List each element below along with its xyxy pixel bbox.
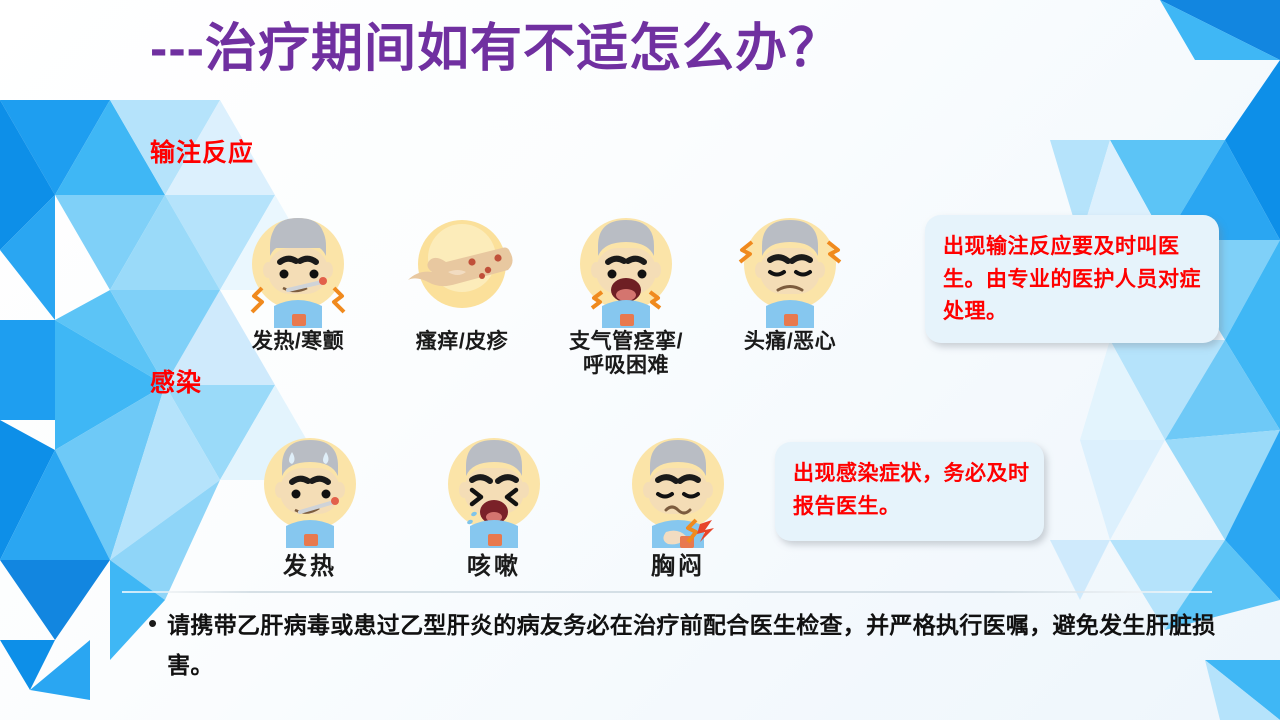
symptom-item-chest-tightness: 胸闷 bbox=[608, 416, 748, 581]
infusion-symptom-row: 发热/寒颤 瘙痒/皮疹 bbox=[228, 196, 860, 377]
symptom-caption: 发热/寒颤 bbox=[252, 330, 344, 354]
bullet-marker: • bbox=[148, 605, 157, 643]
symptom-item-itch-rash: 瘙痒/皮疹 bbox=[392, 196, 532, 354]
symptom-caption: 瘙痒/皮疹 bbox=[416, 330, 508, 354]
callout-infection: 出现感染症状，务必及时报告医生。 bbox=[775, 442, 1044, 541]
slide-canvas: ---治疗期间如有不适怎么办？ 输注反应 感染 bbox=[0, 0, 1280, 720]
symptom-caption: 发热 bbox=[283, 554, 337, 581]
symptom-caption: 胸闷 bbox=[651, 554, 705, 581]
symptom-item-fever: 发热 bbox=[240, 416, 380, 581]
headache-nausea-face-icon bbox=[720, 196, 860, 328]
callout-text: 出现输注反应要及时叫医生。由专业的医护人员对症处理。 bbox=[943, 231, 1205, 329]
symptom-item-bronchospasm-dyspnea: 支气管痉挛/ 呼吸困难 bbox=[556, 196, 696, 377]
symptom-item-fever-chills: 发热/寒颤 bbox=[228, 196, 368, 354]
section-label-infusion-reaction: 输注反应 bbox=[150, 133, 254, 169]
symptom-caption: 头痛/恶心 bbox=[744, 330, 836, 354]
infection-symptom-row: 发热 bbox=[240, 416, 748, 581]
section-label-infection: 感染 bbox=[150, 363, 202, 399]
chest-tightness-face-icon bbox=[608, 416, 748, 548]
footnote: • 请携带乙肝病毒或患过乙型肝炎的病友务必在治疗前配合医生检查，并严格执行医嘱，… bbox=[148, 605, 1218, 686]
bottom-divider bbox=[122, 591, 1212, 593]
symptom-caption: 支气管痉挛/ 呼吸困难 bbox=[569, 330, 683, 377]
callout-infusion-reaction: 出现输注反应要及时叫医生。由专业的医护人员对症处理。 bbox=[925, 215, 1219, 343]
cough-face-icon bbox=[424, 416, 564, 548]
fever-sweat-face-icon bbox=[240, 416, 380, 548]
fever-chills-face-icon bbox=[228, 196, 368, 328]
bronchospasm-dyspnea-face-icon bbox=[556, 196, 696, 328]
footnote-text: 请携带乙肝病毒或患过乙型肝炎的病友务必在治疗前配合医生检查，并严格执行医嘱，避免… bbox=[167, 605, 1218, 686]
slide-title: ---治疗期间如有不适怎么办？ bbox=[150, 22, 1010, 77]
symptom-item-cough: 咳嗽 bbox=[424, 416, 564, 581]
symptom-item-headache-nausea: 头痛/恶心 bbox=[720, 196, 860, 354]
itch-rash-hand-icon bbox=[392, 196, 532, 328]
callout-text: 出现感染症状，务必及时报告医生。 bbox=[793, 458, 1030, 523]
symptom-caption: 咳嗽 bbox=[467, 554, 521, 581]
